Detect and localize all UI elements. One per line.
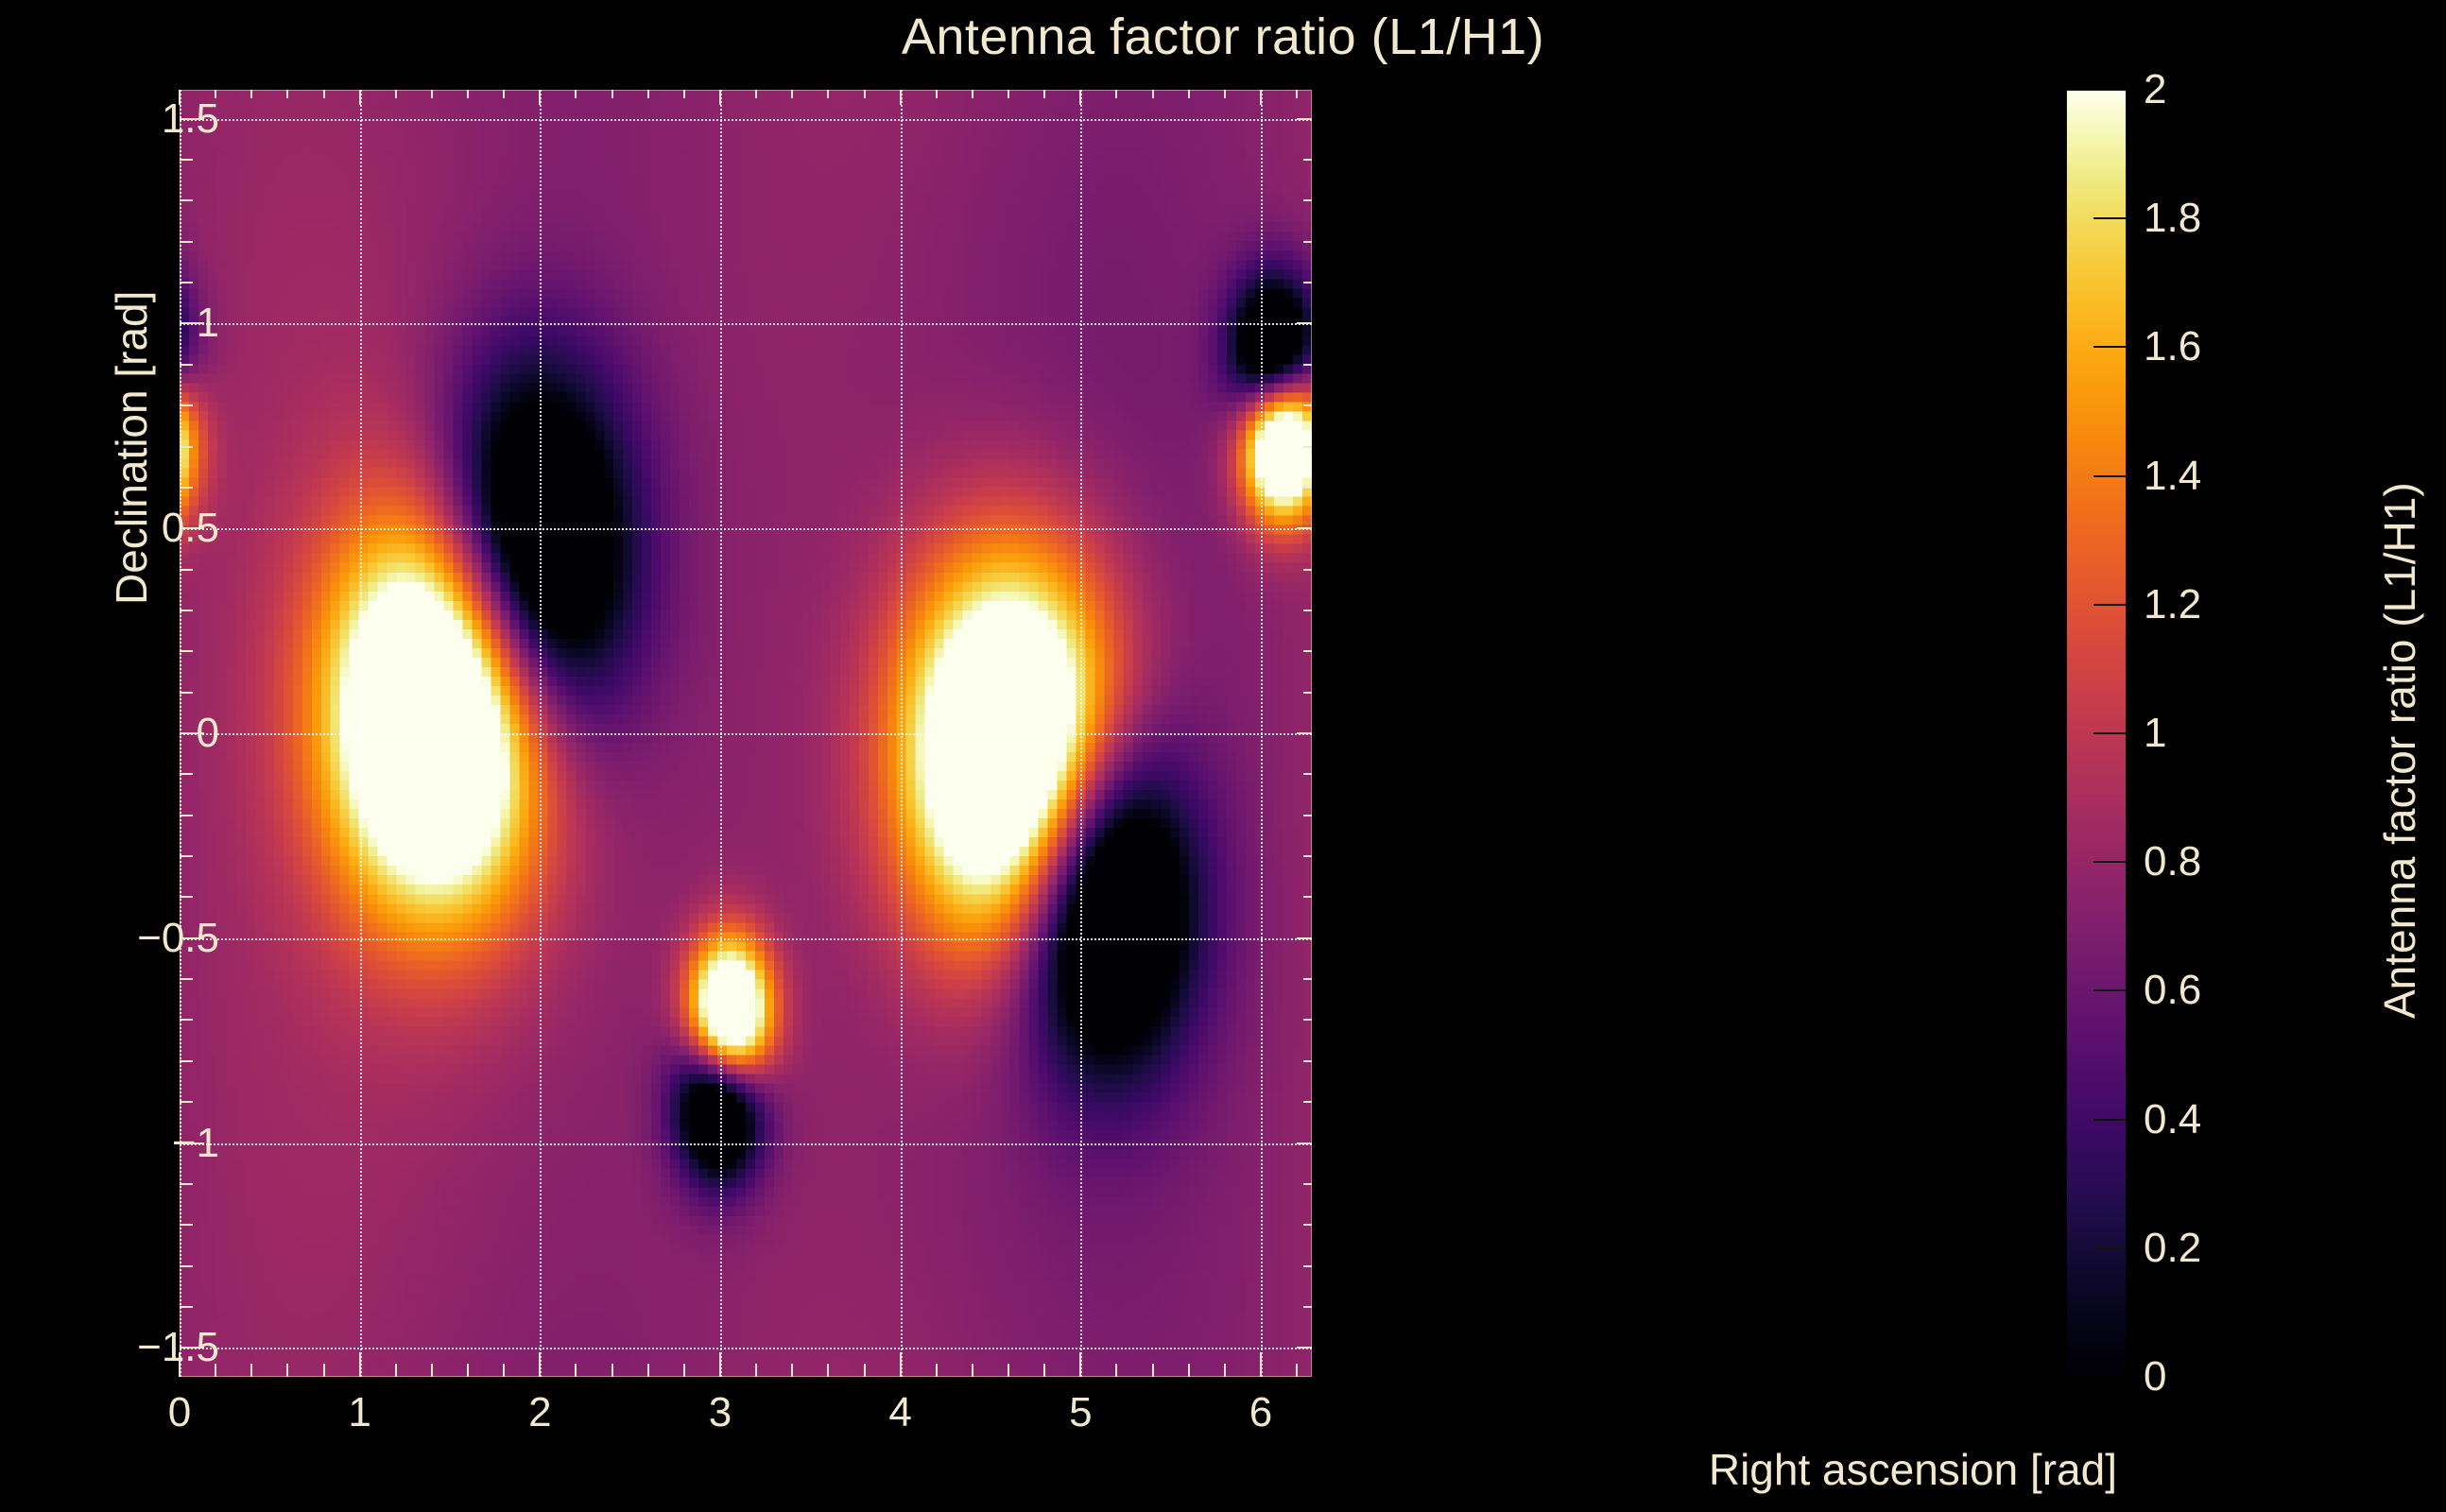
x-minor-tick <box>1043 1364 1045 1377</box>
y-minor-tick <box>180 610 193 611</box>
y-minor-tick-right <box>1303 1306 1312 1308</box>
heatmap-pixels <box>180 90 1312 1377</box>
colorbar-tick-label: 1.4 <box>2144 453 2201 500</box>
x-minor-tick-top <box>1188 90 1190 98</box>
y-minor-tick-right <box>1303 773 1312 775</box>
y-minor-tick <box>180 896 193 898</box>
y-minor-tick-right <box>1303 1101 1312 1103</box>
x-minor-tick-top <box>683 90 685 98</box>
x-minor-tick <box>575 1364 577 1377</box>
x-minor-tick-top <box>1008 90 1009 98</box>
y-minor-tick-right <box>1303 610 1312 611</box>
y-minor-tick-right <box>1303 569 1312 571</box>
x-axis-title: Right ascension [rad] <box>0 1444 2117 1495</box>
colorbar-tick <box>2093 346 2127 348</box>
x-minor-tick <box>1115 1364 1117 1377</box>
x-minor-tick-top <box>755 90 757 98</box>
x-minor-tick <box>250 1364 252 1377</box>
x-minor-tick-top <box>1115 90 1117 98</box>
y-major-tick-right <box>1297 1347 1312 1349</box>
colorbar-tick-label: 0.6 <box>2144 967 2201 1014</box>
y-minor-tick <box>180 569 193 571</box>
y-minor-tick <box>180 1060 193 1062</box>
colorbar-tick <box>2093 1247 2127 1249</box>
x-minor-tick-top <box>1224 90 1226 98</box>
x-minor-tick <box>1296 1364 1298 1377</box>
x-minor-tick <box>1224 1364 1226 1377</box>
x-minor-tick-top <box>1296 90 1298 98</box>
y-minor-tick <box>180 241 193 243</box>
y-minor-tick <box>180 1019 193 1021</box>
y-minor-tick-right <box>1303 282 1312 283</box>
colorbar-tick <box>2093 861 2127 863</box>
colorbar-tick-label: 0 <box>2144 1353 2166 1400</box>
x-minor-tick <box>611 1364 613 1377</box>
x-minor-tick <box>1008 1364 1009 1377</box>
x-minor-tick <box>755 1364 757 1377</box>
x-minor-tick-top <box>575 90 577 98</box>
colorbar-tick-label: 0.2 <box>2144 1225 2201 1272</box>
x-minor-tick <box>827 1364 829 1377</box>
colorbar-tick <box>2093 217 2127 219</box>
y-tick-label: −1.5 <box>137 1324 219 1371</box>
x-minor-tick-top <box>1043 90 1045 98</box>
y-minor-tick <box>180 1101 193 1103</box>
y-minor-tick-right <box>1303 241 1312 243</box>
x-minor-tick-top <box>936 90 938 98</box>
y-minor-tick <box>180 1265 193 1267</box>
heatmap-image <box>180 90 1312 1377</box>
x-major-tick-top <box>719 90 721 105</box>
colorbar-tick <box>2093 732 2127 734</box>
y-minor-tick-right <box>1303 199 1312 201</box>
colorbar-tick <box>2093 475 2127 477</box>
colorbar-title: Antenna factor ratio (L1/H1) <box>2374 482 2425 1019</box>
x-major-tick <box>539 1352 541 1377</box>
colorbar-tick-label: 0.8 <box>2144 838 2201 885</box>
colorbar-tick-label: 1 <box>2144 710 2166 757</box>
y-minor-tick <box>180 446 193 448</box>
y-major-tick-right <box>1297 1143 1312 1144</box>
y-minor-tick <box>180 1224 193 1226</box>
x-minor-tick-top <box>467 90 469 98</box>
x-major-tick-top <box>1260 90 1262 105</box>
x-tick-label: 6 <box>1249 1389 1272 1436</box>
x-minor-tick <box>467 1364 469 1377</box>
x-tick-label: 0 <box>168 1389 191 1436</box>
y-minor-tick-right <box>1303 896 1312 898</box>
colorbar-tick-label: 2 <box>2144 66 2166 113</box>
y-minor-tick-right <box>1303 855 1312 857</box>
heatmap-plot-area[interactable] <box>180 90 1312 1377</box>
x-minor-tick <box>683 1364 685 1377</box>
colorbar-tick <box>2093 989 2127 991</box>
y-minor-tick-right <box>1303 364 1312 366</box>
x-minor-tick-top <box>395 90 397 98</box>
y-minor-tick <box>180 1183 193 1185</box>
y-minor-tick-right <box>1303 1183 1312 1185</box>
x-minor-tick-top <box>323 90 325 98</box>
y-minor-tick-right <box>1303 1224 1312 1226</box>
y-minor-tick <box>180 773 193 775</box>
y-minor-tick-right <box>1303 487 1312 489</box>
x-minor-tick-top <box>864 90 866 98</box>
x-tick-label: 2 <box>528 1389 551 1436</box>
x-minor-tick <box>431 1364 433 1377</box>
y-minor-tick-right <box>1303 692 1312 694</box>
y-major-tick-right <box>1297 527 1312 529</box>
x-minor-tick-top <box>503 90 505 98</box>
colorbar-tick-label: 1.6 <box>2144 323 2201 370</box>
x-minor-tick-top <box>250 90 252 98</box>
x-minor-tick-top <box>611 90 613 98</box>
y-minor-tick-right <box>1303 1019 1312 1021</box>
y-tick-label: −1 <box>172 1120 219 1167</box>
x-minor-tick <box>864 1364 866 1377</box>
x-major-tick <box>359 1352 361 1377</box>
y-minor-tick-right <box>1303 159 1312 161</box>
x-minor-tick <box>647 1364 649 1377</box>
x-major-tick-top <box>1079 90 1081 105</box>
colorbar-tick <box>2093 1119 2127 1121</box>
x-minor-tick <box>936 1364 938 1377</box>
colorbar-tick-label: 0.4 <box>2144 1096 2201 1143</box>
x-minor-tick <box>972 1364 973 1377</box>
y-minor-tick <box>180 199 193 201</box>
y-major-tick-right <box>1297 322 1312 324</box>
y-minor-tick <box>180 692 193 694</box>
x-tick-label: 1 <box>348 1389 370 1436</box>
figure-canvas: Antenna factor ratio (L1/H1) 1.510.50−0.… <box>0 0 2446 1512</box>
x-tick-label: 4 <box>888 1389 911 1436</box>
x-minor-tick-top <box>972 90 973 98</box>
y-minor-tick <box>180 159 193 161</box>
x-minor-tick-top <box>791 90 793 98</box>
y-minor-tick-right <box>1303 978 1312 980</box>
x-major-tick <box>1260 1352 1262 1377</box>
y-minor-tick <box>180 815 193 816</box>
y-major-tick-right <box>1297 732 1312 734</box>
y-major-tick-right <box>1297 118 1312 120</box>
y-minor-tick <box>180 650 193 652</box>
x-minor-tick-top <box>827 90 829 98</box>
x-minor-tick <box>395 1364 397 1377</box>
x-major-tick-top <box>539 90 541 105</box>
y-minor-tick-right <box>1303 446 1312 448</box>
y-tick-label: −0.5 <box>137 915 219 962</box>
y-minor-tick <box>180 364 193 366</box>
x-tick-label: 5 <box>1069 1389 1092 1436</box>
x-minor-tick <box>1152 1364 1154 1377</box>
y-minor-tick-right <box>1303 650 1312 652</box>
y-tick-label: 0.5 <box>162 505 219 552</box>
y-tick-label: 1 <box>197 300 219 347</box>
y-minor-tick-right <box>1303 1060 1312 1062</box>
y-minor-tick-right <box>1303 1265 1312 1267</box>
x-minor-tick <box>323 1364 325 1377</box>
x-major-tick <box>1079 1352 1081 1377</box>
x-major-tick <box>900 1352 902 1377</box>
y-axis-title: Declination [rad] <box>106 291 157 605</box>
colorbar-tick-label: 1.8 <box>2144 195 2201 242</box>
y-minor-tick <box>180 487 193 489</box>
x-minor-tick-top <box>1152 90 1154 98</box>
y-minor-tick <box>180 855 193 857</box>
y-minor-tick <box>180 1306 193 1308</box>
y-tick-label: 0 <box>197 710 219 757</box>
x-tick-label: 3 <box>709 1389 732 1436</box>
x-minor-tick-top <box>431 90 433 98</box>
x-minor-tick <box>503 1364 505 1377</box>
figure-title: Antenna factor ratio (L1/H1) <box>0 8 2446 66</box>
x-minor-tick-top <box>647 90 649 98</box>
x-minor-tick <box>286 1364 288 1377</box>
x-major-tick-top <box>900 90 902 105</box>
x-minor-tick <box>791 1364 793 1377</box>
y-minor-tick-right <box>1303 815 1312 816</box>
x-minor-tick <box>1188 1364 1190 1377</box>
x-major-tick-top <box>359 90 361 105</box>
y-minor-tick <box>180 978 193 980</box>
y-minor-tick <box>180 404 193 406</box>
y-major-tick-right <box>1297 937 1312 939</box>
colorbar-tick <box>2093 604 2127 606</box>
y-minor-tick-right <box>1303 404 1312 406</box>
y-tick-label: 1.5 <box>162 95 219 143</box>
x-major-tick <box>719 1352 721 1377</box>
x-minor-tick-top <box>286 90 288 98</box>
colorbar-tick-label: 1.2 <box>2144 581 2201 628</box>
y-minor-tick <box>180 282 193 283</box>
